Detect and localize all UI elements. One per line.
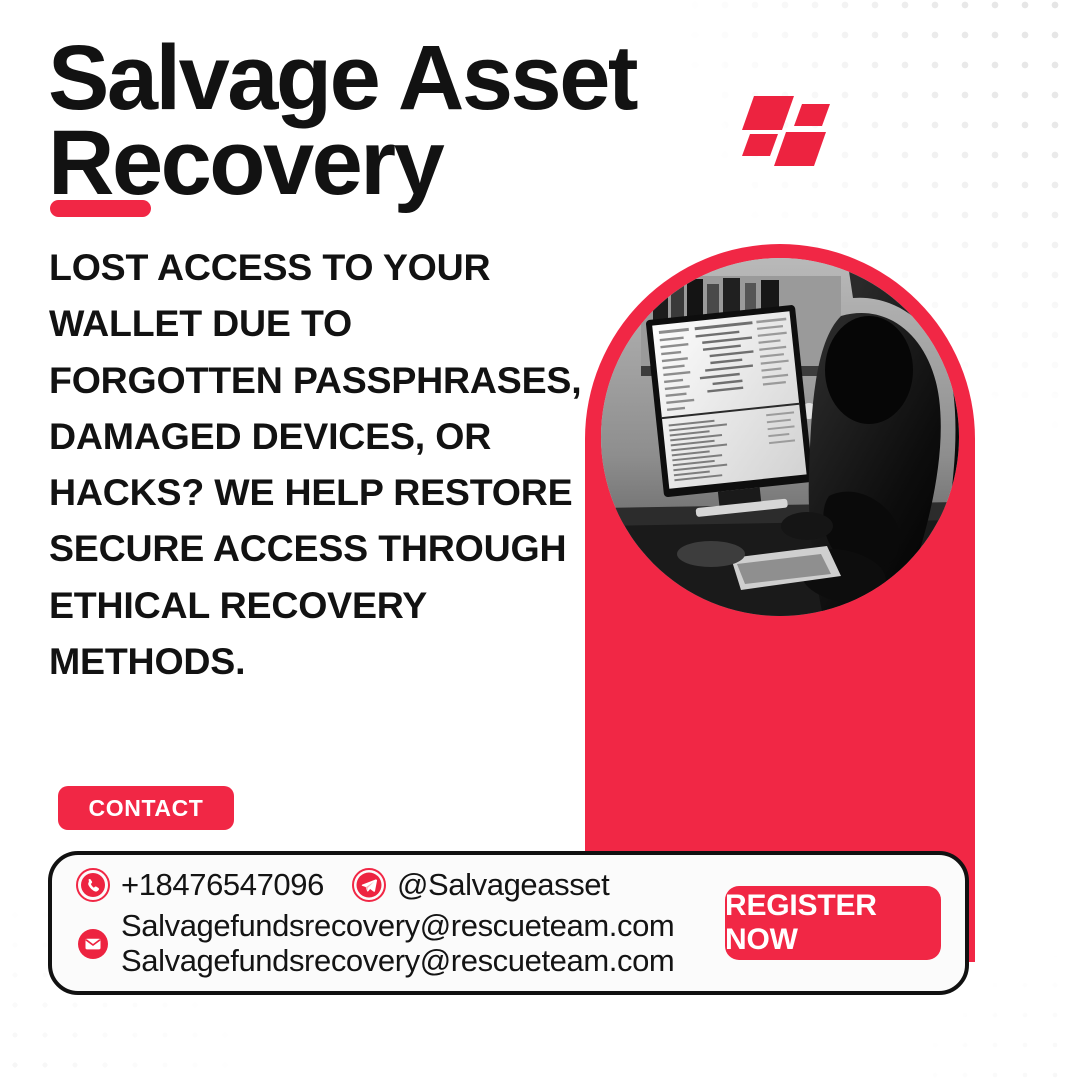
email-line-1[interactable]: Salvagefundsrecovery@rescueteam.com — [121, 909, 674, 944]
body-copy: Lost access to your wallet due to forgot… — [49, 239, 594, 689]
register-now-button[interactable]: REGISTER NOW — [725, 886, 941, 960]
phone-number[interactable]: +18476547096 — [121, 867, 324, 903]
hero-photo — [601, 258, 959, 616]
telegram-icon — [352, 868, 386, 902]
phone-icon — [76, 868, 110, 902]
four-parallelograms-logo-icon — [740, 92, 832, 168]
email-lines: Salvagefundsrecovery@rescueteam.com Salv… — [121, 909, 674, 978]
contact-badge[interactable]: CONTACT — [58, 786, 234, 830]
contact-card: +18476547096 @Salvageasset — [48, 851, 969, 995]
email-line-2[interactable]: Salvagefundsrecovery@rescueteam.com — [121, 944, 674, 979]
telegram-handle[interactable]: @Salvageasset — [397, 867, 609, 903]
contact-row-phone-telegram: +18476547096 @Salvageasset — [76, 867, 725, 903]
page-title: Salvage Asset Recovery — [48, 36, 748, 205]
poster-canvas: Salvage Asset Recovery Lost access to yo… — [0, 0, 1080, 1080]
contact-row-email: Salvagefundsrecovery@rescueteam.com Salv… — [76, 909, 725, 978]
title-underline-accent — [50, 200, 151, 217]
email-icon — [76, 927, 110, 961]
contact-info-group: +18476547096 @Salvageasset — [52, 867, 725, 978]
